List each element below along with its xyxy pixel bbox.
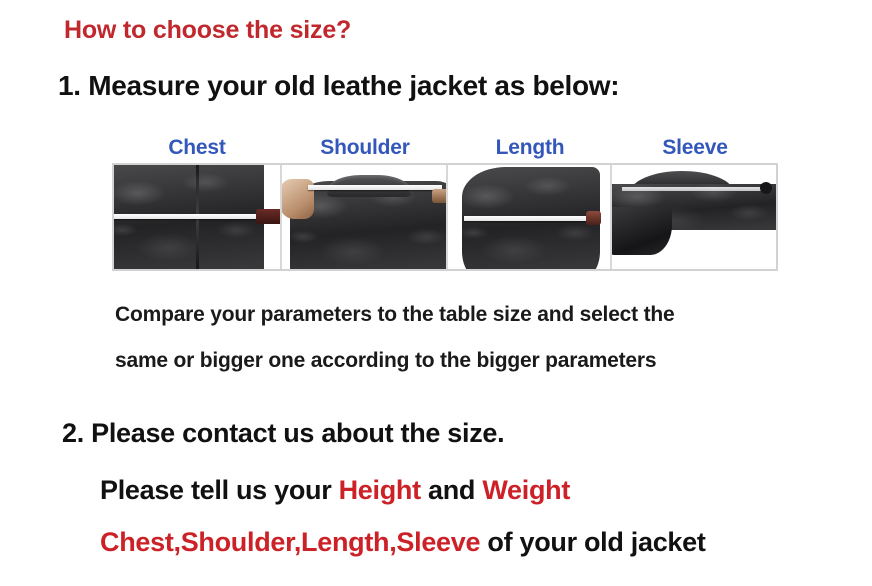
compare-paragraph: Compare your parameters to the table siz… bbox=[115, 292, 825, 384]
page-title: How to choose the size? bbox=[64, 16, 351, 45]
shoulder-label: Shoulder bbox=[282, 136, 448, 160]
length-measuring-tape-icon bbox=[464, 216, 590, 221]
sleeve-cuff bbox=[612, 207, 672, 255]
sleeve-measuring-tape-icon bbox=[622, 187, 764, 191]
sleeve-photo bbox=[612, 165, 776, 269]
shoulder-measuring-tape-icon bbox=[308, 185, 442, 190]
sleeve-label: Sleeve bbox=[612, 136, 778, 160]
old-jacket-suffix: of your old jacket bbox=[480, 527, 705, 557]
step-2-heading: 2. Please contact us about the size. bbox=[62, 418, 504, 449]
chest-label: Chest bbox=[112, 136, 282, 160]
measurement-labels-row: Chest Shoulder Length Sleeve bbox=[112, 136, 778, 162]
length-label: Length bbox=[448, 136, 612, 160]
tell-us-prefix: Please tell us your bbox=[100, 475, 339, 505]
compare-line-1: Compare your parameters to the table siz… bbox=[115, 292, 825, 338]
measurements-line: Chest,Shoulder,Length,Sleeve of your old… bbox=[100, 527, 706, 558]
chest-tape-reel-icon bbox=[256, 209, 282, 224]
shoulder-photo bbox=[282, 165, 448, 269]
shoulder-tape-end-icon bbox=[432, 189, 448, 203]
chest-photo bbox=[114, 165, 282, 269]
length-photo bbox=[448, 165, 612, 269]
measurement-photo-strip bbox=[112, 163, 778, 271]
length-tape-reel-icon bbox=[586, 211, 601, 225]
compare-line-2: same or bigger one according to the bigg… bbox=[115, 338, 825, 384]
chest-measuring-tape-icon bbox=[114, 214, 264, 219]
weight-keyword: Weight bbox=[482, 475, 570, 505]
measurement-keywords: Chest,Shoulder,Length,Sleeve bbox=[100, 527, 480, 557]
sleeve-tape-end-icon bbox=[760, 182, 772, 194]
step-1-heading: 1. Measure your old leathe jacket as bel… bbox=[58, 70, 619, 102]
height-keyword: Height bbox=[339, 475, 421, 505]
height-weight-line: Please tell us your Height and Weight bbox=[100, 475, 570, 506]
and-connector: and bbox=[421, 475, 483, 505]
